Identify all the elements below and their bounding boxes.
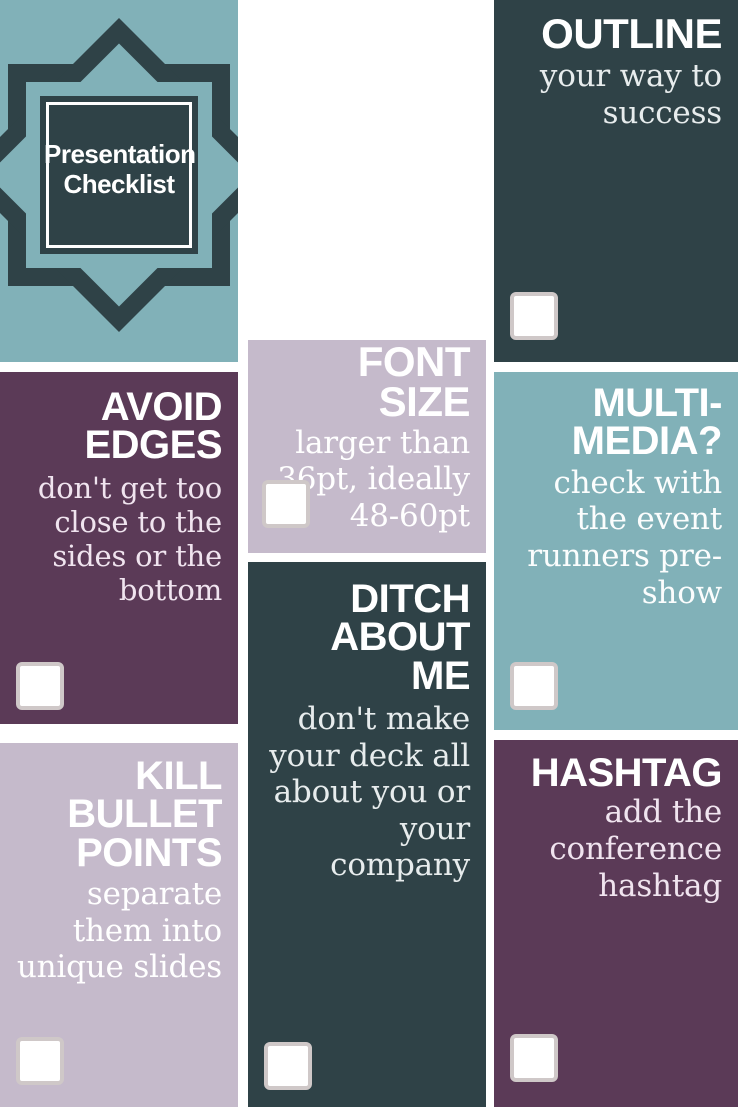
- card-multimedia-body: check with the event runners pre-show: [508, 465, 722, 611]
- card-avoid-edges: AVOID EDGES don't get too close to the s…: [0, 372, 238, 724]
- card-kill-bullet-points-heading: KILL BULLET POINTS: [14, 757, 222, 872]
- card-font-size-heading: FONT SIZE: [262, 342, 470, 423]
- page-title-line-2: Checklist: [44, 170, 194, 200]
- card-avoid-edges-body: don't get too close to the sides or the …: [14, 471, 222, 608]
- page-title: Presentation Checklist: [44, 140, 194, 199]
- card-ditch-about-me-body: don't make your deck all about you or yo…: [262, 701, 470, 884]
- card-outline-heading: OUTLINE: [508, 14, 722, 54]
- card-hashtag: HASHTAG add the conference hashtag: [494, 740, 738, 1107]
- card-kill-bullet-points-body: separate them into unique slides: [14, 876, 222, 986]
- checkbox-outline[interactable]: [510, 292, 558, 340]
- card-multimedia-heading: MULTI-MEDIA?: [508, 384, 722, 461]
- page-title-line-1: Presentation: [44, 140, 194, 170]
- checkbox-hashtag[interactable]: [510, 1034, 558, 1082]
- card-ditch-about-me-heading: DITCH ABOUT ME: [262, 580, 470, 695]
- presentation-checklist-infographic: Presentation Checklist OUTLINE your way …: [0, 0, 738, 1107]
- card-outline: OUTLINE your way to success: [494, 0, 738, 362]
- card-hashtag-heading: HASHTAG: [508, 754, 722, 792]
- card-outline-body: your way to success: [508, 58, 722, 131]
- card-ditch-about-me: DITCH ABOUT ME don't make your deck all …: [248, 562, 486, 1107]
- checkbox-multimedia[interactable]: [510, 662, 558, 710]
- checkbox-font-size[interactable]: [262, 480, 310, 528]
- checkbox-ditch-about-me[interactable]: [264, 1042, 312, 1090]
- card-multimedia: MULTI-MEDIA? check with the event runner…: [494, 372, 738, 730]
- card-font-size: FONT SIZE larger than 36pt, ideally 48-6…: [248, 340, 486, 553]
- card-hashtag-body: add the conference hashtag: [508, 794, 722, 904]
- checkbox-kill-bullet-points[interactable]: [16, 1037, 64, 1085]
- card-kill-bullet-points: KILL BULLET POINTS separate them into un…: [0, 743, 238, 1107]
- checkbox-avoid-edges[interactable]: [16, 662, 64, 710]
- card-avoid-edges-heading: AVOID EDGES: [14, 388, 222, 465]
- title-badge-panel: Presentation Checklist: [0, 0, 238, 362]
